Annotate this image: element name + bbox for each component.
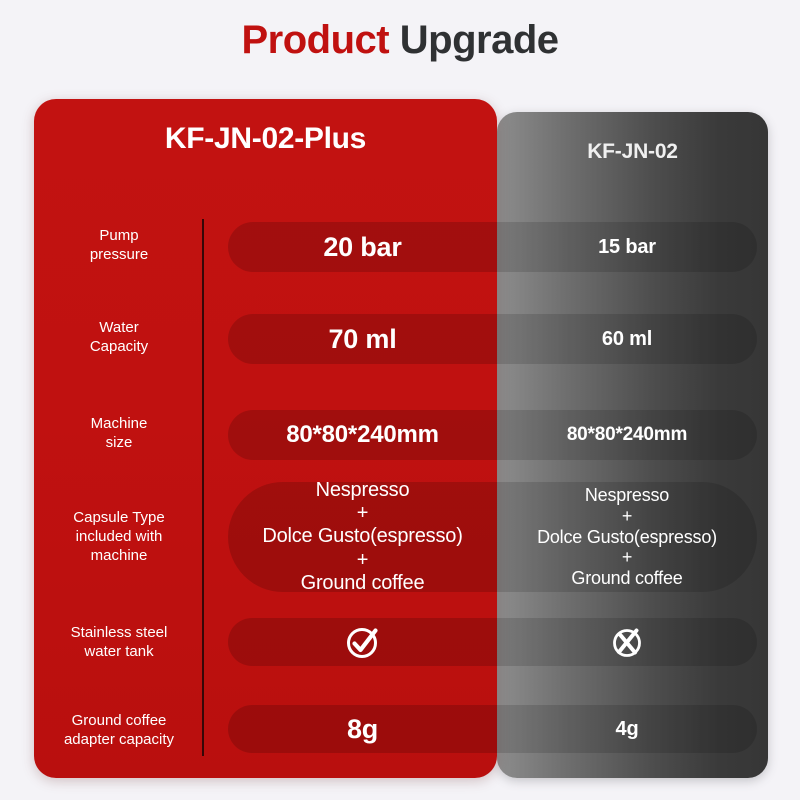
value-line: Dolce Gusto(espresso)	[537, 527, 717, 548]
secondary-value: 60 ml	[497, 314, 757, 364]
row-label-line: pressure	[40, 245, 198, 264]
secondary-product-title: KF-JN-02	[497, 140, 768, 164]
secondary-value: 80*80*240mm	[497, 410, 757, 460]
row-value-pill: Nespresso + Dolce Gusto(espresso) + Grou…	[228, 482, 757, 592]
secondary-value: 15 bar	[497, 222, 757, 272]
value-line: +	[622, 506, 632, 527]
value-line: +	[622, 547, 632, 568]
primary-value: 20 bar	[228, 222, 497, 272]
row-value-pill: 8g 4g	[228, 705, 757, 753]
secondary-value: Nespresso + Dolce Gusto(espresso) + Grou…	[497, 482, 757, 592]
row-label-line: machine	[40, 546, 198, 565]
primary-value: 8g	[228, 705, 497, 753]
table-row: Capsule Type included with machine Nespr…	[0, 482, 800, 598]
row-label-line: Machine	[40, 414, 198, 433]
row-value-pill: 70 ml 60 ml	[228, 314, 757, 364]
secondary-value: 4g	[497, 705, 757, 753]
row-label-line: Pump	[40, 226, 198, 245]
value-line: +	[357, 549, 368, 572]
value-line: Nespresso	[316, 482, 410, 502]
row-label: Ground coffee adapter capacity	[40, 711, 198, 749]
value-line: Nespresso	[585, 485, 669, 506]
row-value-pill: 80*80*240mm 80*80*240mm	[228, 410, 757, 460]
row-label-line: adapter capacity	[40, 730, 198, 749]
comparison-table: KF-JN-02-Plus KF-JN-02 Pump pressure 20 …	[0, 0, 800, 800]
row-label-line: water tank	[40, 642, 198, 661]
table-row: Pump pressure 20 bar 15 bar	[0, 222, 800, 278]
primary-value: Nespresso + Dolce Gusto(espresso) + Grou…	[228, 482, 497, 592]
value-line: Ground coffee	[571, 568, 682, 589]
value-line: Dolce Gusto(espresso)	[262, 525, 462, 548]
row-label: Stainless steel water tank	[40, 623, 198, 661]
row-label: Water Capacity	[40, 318, 198, 356]
primary-value: 80*80*240mm	[228, 410, 497, 460]
row-label: Machine size	[40, 414, 198, 452]
x-circle-icon	[497, 618, 757, 666]
row-value-pill: 20 bar 15 bar	[228, 222, 757, 272]
table-row: Machine size 80*80*240mm 80*80*240mm	[0, 410, 800, 466]
row-label-line: included with	[40, 527, 198, 546]
row-label: Pump pressure	[40, 226, 198, 264]
row-label-line: Capacity	[40, 337, 198, 356]
value-line: Ground coffee	[301, 572, 425, 592]
value-line: +	[357, 502, 368, 525]
table-row: Water Capacity 70 ml 60 ml	[0, 314, 800, 370]
row-label-line: Capsule Type	[40, 508, 198, 527]
row-label-line: Ground coffee	[40, 711, 198, 730]
table-row: Ground coffee adapter capacity 8g 4g	[0, 705, 800, 761]
table-row: Stainless steel water tank	[0, 618, 800, 674]
primary-product-title: KF-JN-02-Plus	[34, 122, 497, 156]
row-label-line: size	[40, 433, 198, 452]
check-circle-icon	[228, 618, 497, 666]
row-label: Capsule Type included with machine	[40, 508, 198, 565]
row-label-line: Stainless steel	[40, 623, 198, 642]
primary-value: 70 ml	[228, 314, 497, 364]
row-value-pill	[228, 618, 757, 666]
row-label-line: Water	[40, 318, 198, 337]
